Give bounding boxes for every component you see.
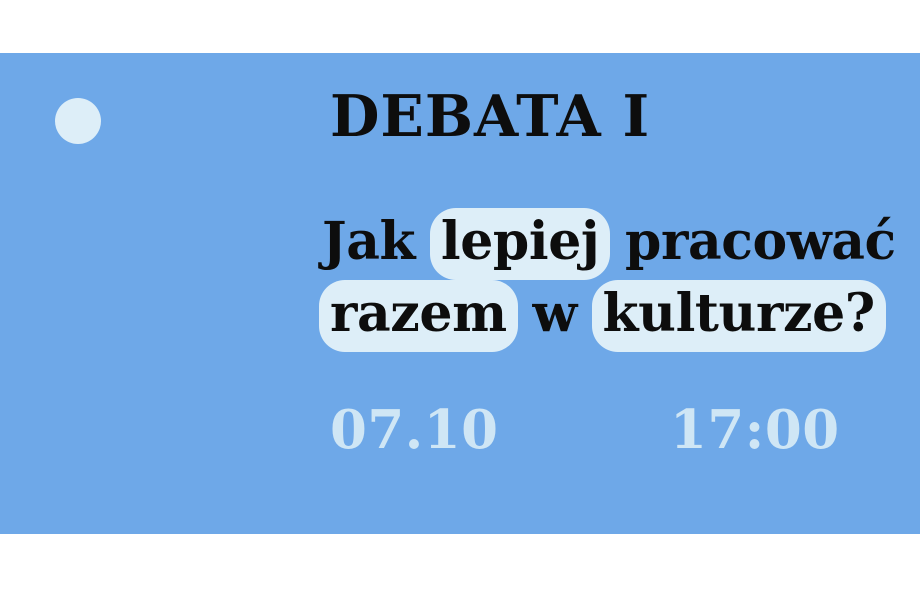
headline-highlight-lepiej: lepiej: [430, 208, 610, 280]
headline-line-1: Jak lepiej pracować: [322, 208, 882, 280]
headline-line-2: razem w kulturze?: [322, 280, 882, 352]
headline-word-pracowac: pracować: [625, 211, 896, 273]
circle-dot-icon: [55, 98, 101, 144]
headline-highlight-kulturze: kulturze?: [592, 280, 886, 352]
event-date: 07.10: [330, 400, 498, 460]
headline-word-w: w: [532, 283, 576, 345]
poster-kicker: DEBATA I: [330, 86, 650, 148]
headline-highlight-razem: razem: [319, 280, 518, 352]
poster-headline: Jak lepiej pracować razem w kulturze?: [322, 208, 882, 352]
poster-meta: 07.10 17:00: [330, 400, 810, 460]
headline-word-jak: Jak: [322, 211, 415, 273]
event-time: 17:00: [670, 400, 840, 460]
event-poster: DEBATA I Jak lepiej pracować razem w kul…: [0, 0, 920, 593]
